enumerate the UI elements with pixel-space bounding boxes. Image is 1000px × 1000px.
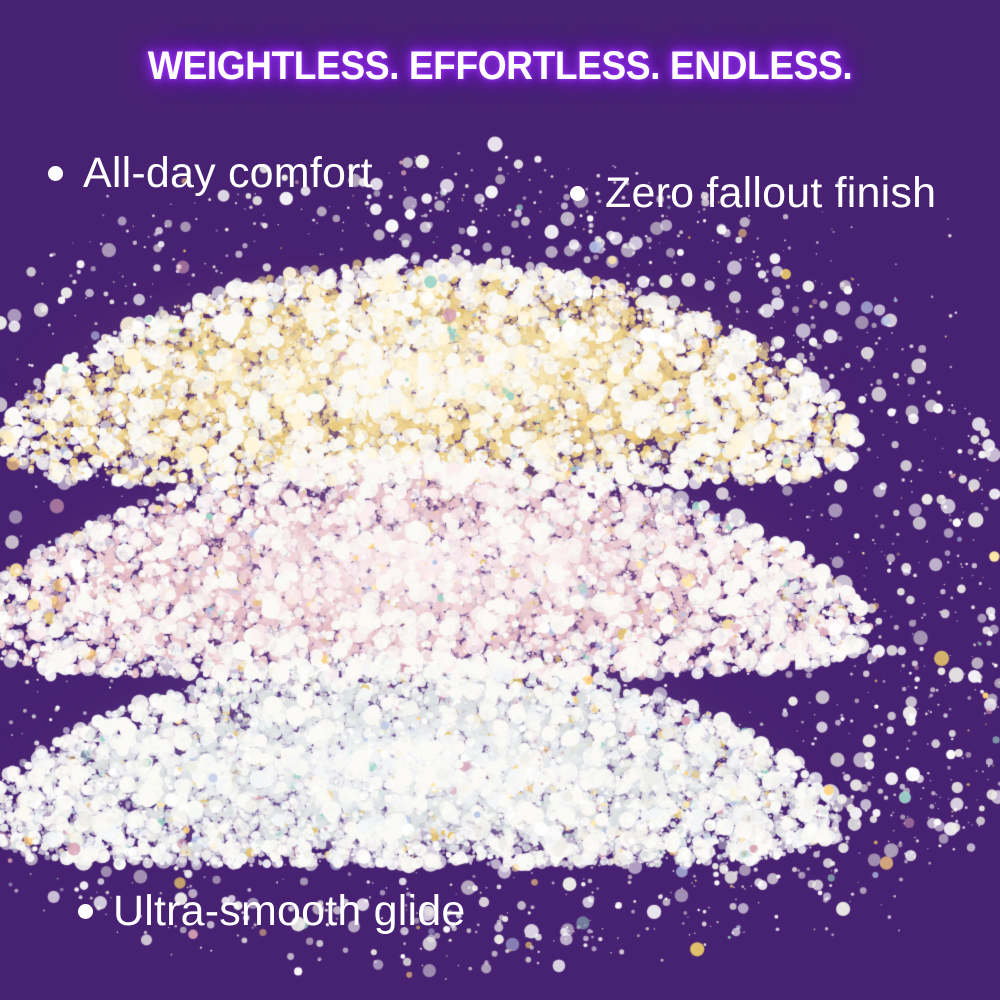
bullet-dot-icon bbox=[78, 904, 93, 919]
bullet-label: Zero fallout finish bbox=[605, 172, 936, 215]
bullet-dot-icon bbox=[570, 186, 585, 201]
page-title: WEIGHTLESS. EFFORTLESS. ENDLESS. bbox=[35, 44, 965, 89]
bullet-label: Ultra-smooth glide bbox=[113, 890, 466, 933]
bullet-item-zero-fallout-finish: Zero fallout finish bbox=[570, 172, 936, 215]
bullet-dot-icon bbox=[48, 166, 63, 181]
bullet-item-all-day-comfort: All-day comfort bbox=[48, 152, 373, 195]
bullet-label: All-day comfort bbox=[83, 152, 373, 195]
bullet-item-ultra-smooth-glide: Ultra-smooth glide bbox=[78, 890, 466, 933]
product-banner: WEIGHTLESS. EFFORTLESS. ENDLESS. All-day… bbox=[0, 0, 1000, 1000]
